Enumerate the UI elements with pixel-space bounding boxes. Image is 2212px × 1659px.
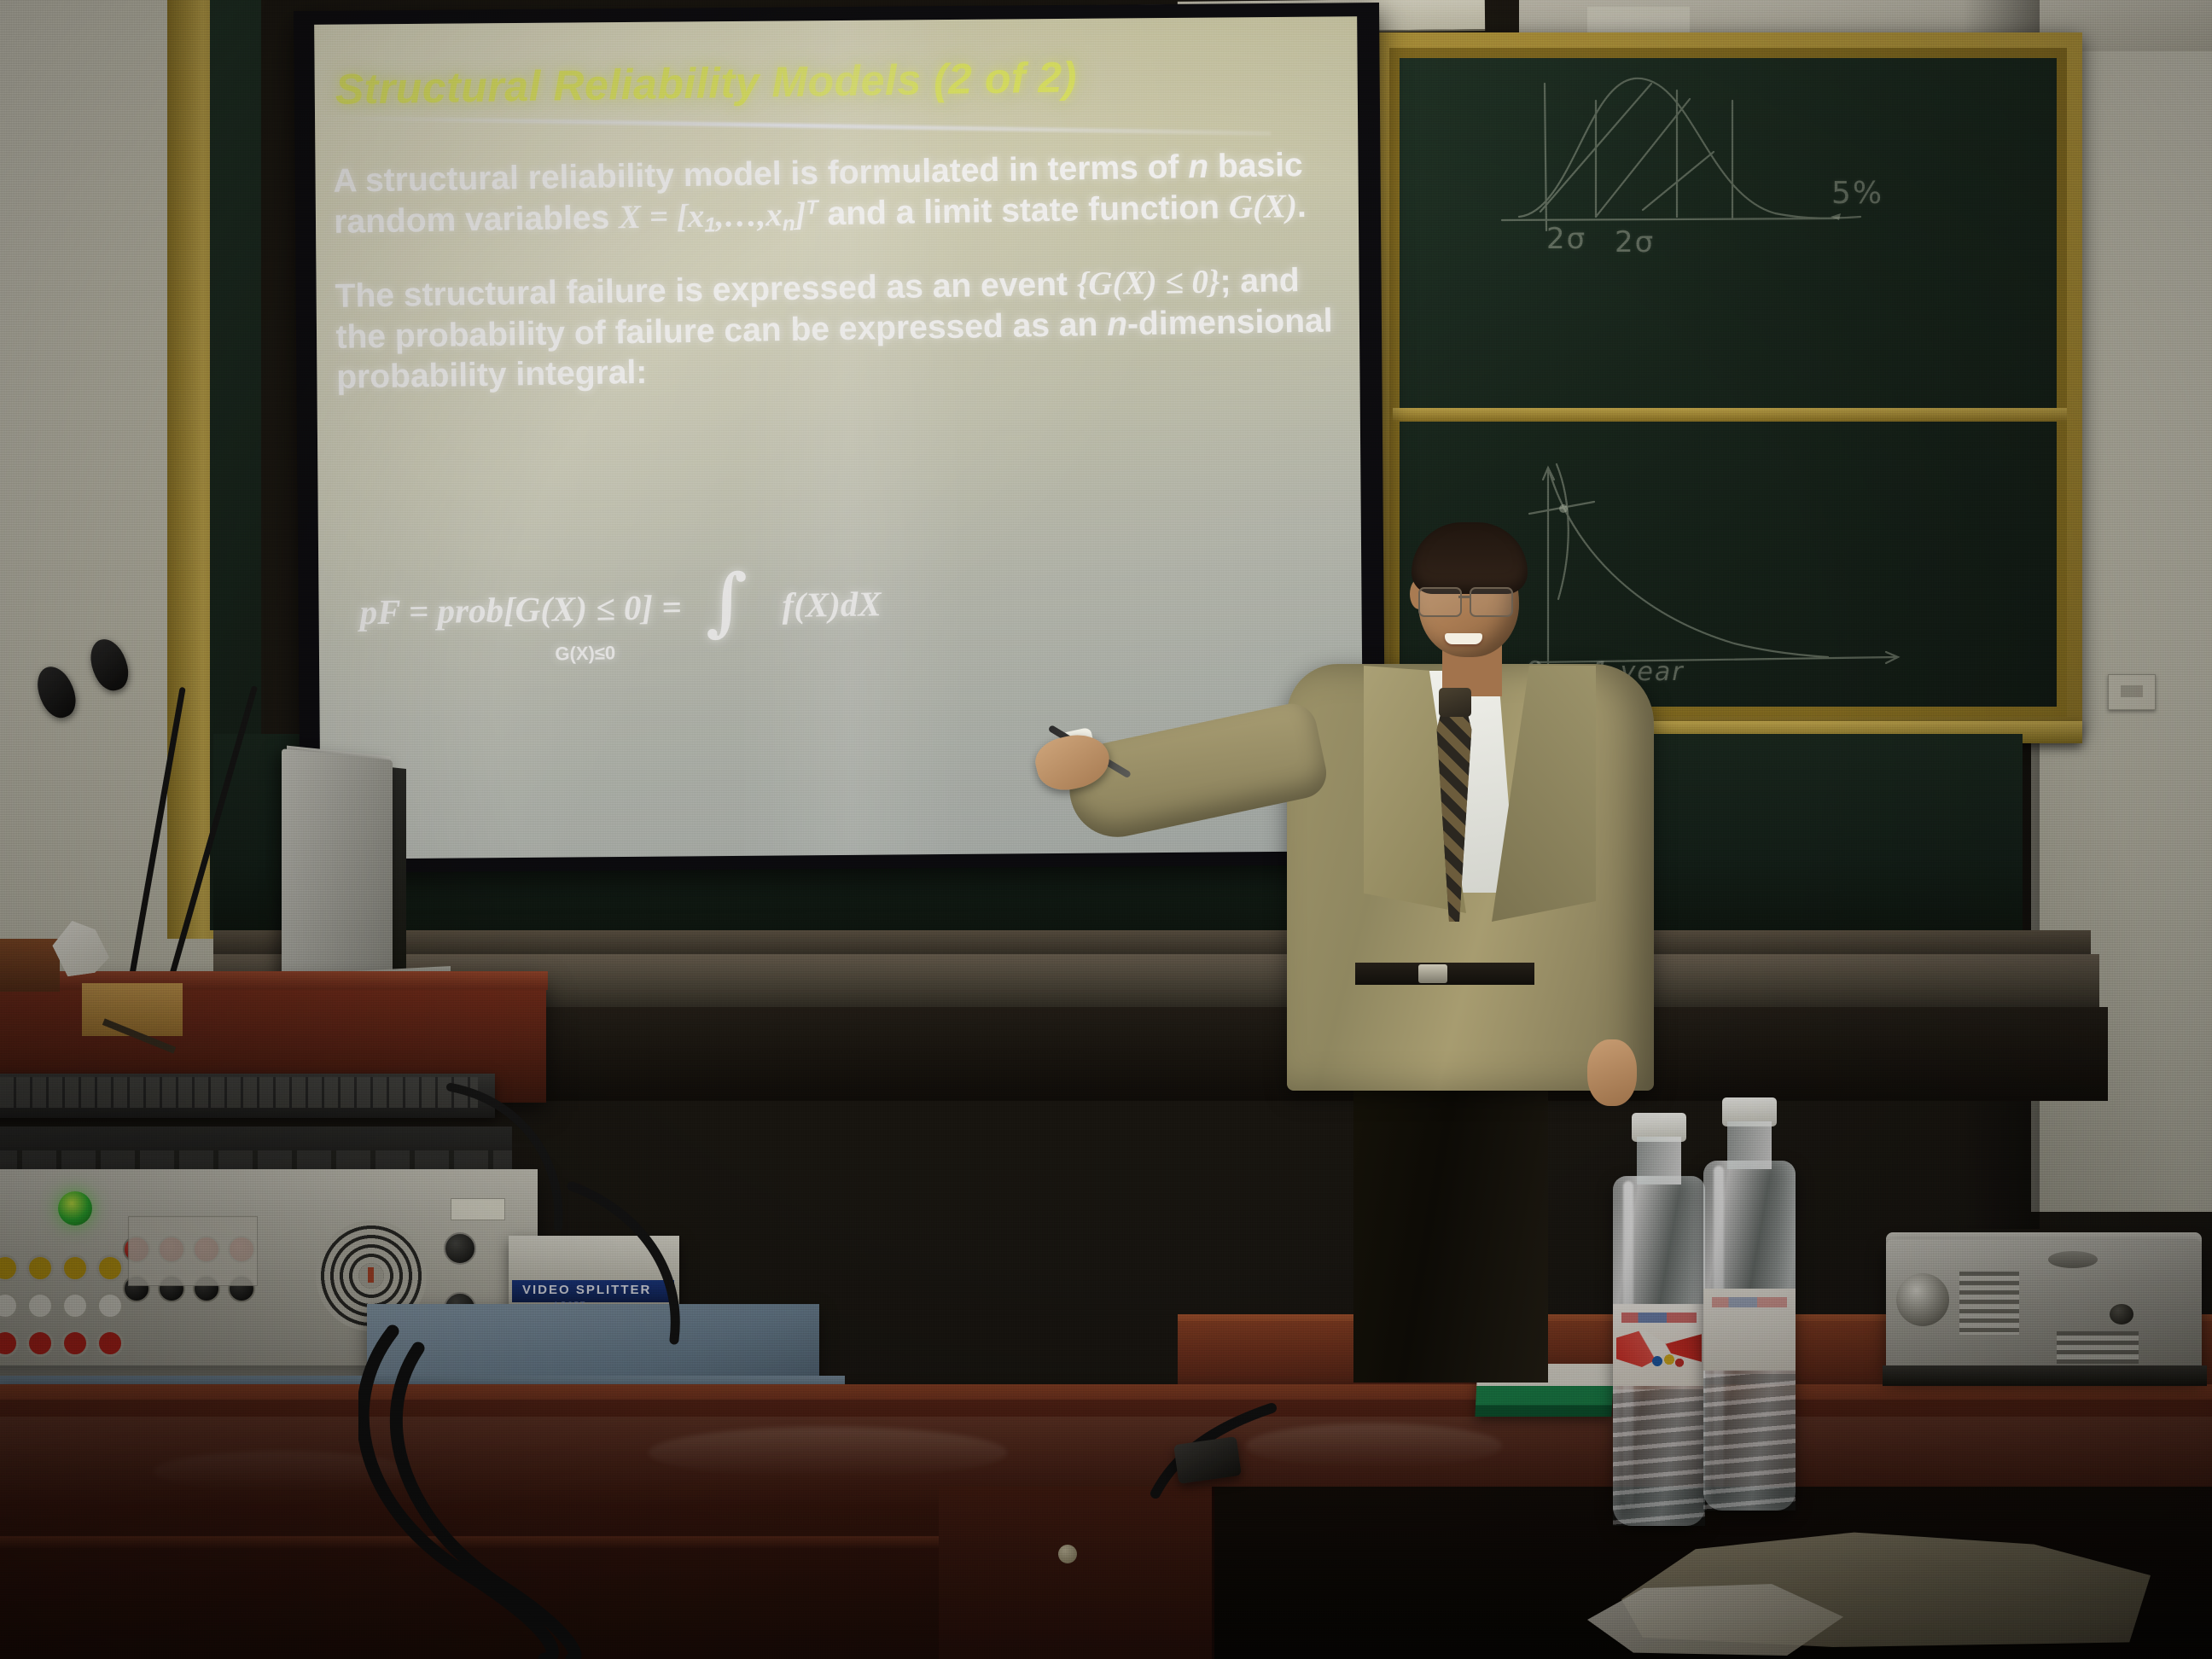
projector-vent-front (1959, 1272, 2019, 1335)
p1-formula-close: ] (795, 195, 806, 232)
rca-jack-row-yellow[interactable] (0, 1254, 124, 1282)
cardboard-box (82, 983, 183, 1036)
p2-event-rel: ≤ 0 (1156, 264, 1208, 301)
chalk-label-sigma-left: 2σ (1546, 222, 1586, 256)
rca-jack[interactable] (96, 1330, 124, 1357)
projector-shadow (1883, 1365, 2207, 1386)
chalk-label-sigma-right: 2σ (1615, 225, 1655, 259)
bottle-neck-1 (1637, 1137, 1681, 1185)
laptop-icon (282, 748, 393, 1008)
p1-formula-xn: x (765, 196, 783, 233)
slide-title-rule (314, 115, 1271, 136)
rca-jack[interactable] (61, 1254, 89, 1282)
projector-knob[interactable] (2110, 1304, 2133, 1324)
p1-part3: and a limit state function (818, 189, 1229, 232)
blackboard-mid-rail (1393, 408, 2067, 422)
rca-jack[interactable] (26, 1292, 54, 1319)
p1-formula-eq: = [ (641, 198, 688, 236)
chalk-bell-curve (1493, 49, 1920, 297)
p1-formula2-X: (X) (1253, 188, 1298, 225)
slide-paragraph-1: A structural reliability model is formul… (333, 144, 1349, 244)
p1-part4: . (1297, 188, 1307, 224)
p1-formula-mid: ,…, (715, 196, 765, 234)
rca-jack-row-white[interactable] (0, 1292, 124, 1319)
presenter-belt-buckle (1418, 964, 1447, 983)
projector-vent-side (2057, 1331, 2139, 1364)
equation-lhs: pF = prob[G(X) ≤ 0] = (359, 586, 682, 632)
bottle-brand-mark-1 (1621, 1313, 1697, 1323)
bottle-ribs-2 (1703, 1374, 1796, 1511)
p2-event-close: } (1208, 264, 1220, 300)
projector-focus-dial[interactable] (2048, 1251, 2098, 1268)
bottle-label-1 (1613, 1304, 1705, 1386)
p2-var-n: n (1107, 306, 1128, 342)
p1-formula-X: X (619, 198, 642, 235)
integral-limit: G(X)≤0 (555, 642, 615, 665)
desk-cabinet-panel (939, 1487, 1214, 1659)
bottle-brand-mark-2 (1712, 1297, 1787, 1307)
presenter-tie-knot (1439, 688, 1471, 717)
rca-jack[interactable] (26, 1330, 54, 1357)
cable-icon-3 (444, 1082, 649, 1236)
glasses-lens-left (1418, 587, 1462, 617)
bottle-label-dots-1 (1650, 1353, 1685, 1369)
p1-formula-sup: T (806, 195, 818, 218)
cable-icon (358, 1314, 888, 1659)
power-led-indicator (58, 1191, 92, 1225)
slide-paragraph-2: The structural failure is expressed as a… (335, 259, 1352, 398)
water-bottle-icon-2 (1703, 1161, 1796, 1511)
equation-integrand: f(X)dX (782, 583, 882, 626)
glasses-icon (1418, 587, 1521, 616)
p2-event-open: { (1076, 265, 1088, 302)
bottle-ribs-1 (1613, 1389, 1705, 1526)
p1-var-n: n (1188, 148, 1209, 185)
integral-sign: ∫ (705, 579, 748, 625)
p1-formula-sub1: 1 (704, 213, 716, 236)
rca-jack[interactable] (61, 1330, 89, 1357)
rca-jack[interactable] (0, 1292, 19, 1319)
p2-event-X: (X) (1112, 265, 1157, 302)
cooling-fan-hub (358, 1263, 384, 1289)
p1-formula-x1: x (687, 197, 704, 234)
wall-outlet (2108, 674, 2156, 710)
slide-equation: pF = prob[G(X) ≤ 0] = ∫ f(X)dX G(X)≤0 (359, 576, 1316, 637)
slide-title: Structural Reliability Models (2 of 2) (335, 48, 1325, 114)
rca-jack[interactable] (96, 1254, 124, 1282)
podium-side-box (0, 939, 60, 992)
p1-formula2-G: G (1228, 189, 1253, 225)
presenter-mouth (1445, 633, 1482, 644)
rca-jack[interactable] (61, 1292, 89, 1319)
desk-cabinet-knob[interactable] (1058, 1545, 1077, 1563)
amplifier-jack-top[interactable] (444, 1232, 476, 1265)
bottle-neck-2 (1727, 1121, 1772, 1169)
p2-event-G: G (1088, 265, 1113, 302)
rca-jack[interactable] (0, 1254, 19, 1282)
chalk-label-percent: 5% (1831, 176, 1883, 211)
water-bottle-icon-1 (1613, 1176, 1705, 1526)
bottle-label-2 (1703, 1289, 1796, 1371)
rca-jack[interactable] (26, 1254, 54, 1282)
rca-jack[interactable] (0, 1330, 19, 1357)
keyboard-keys[interactable] (0, 1077, 478, 1108)
presenter-hand-right (1587, 1039, 1637, 1106)
p1-formula-subn: n (783, 212, 795, 235)
glasses-bridge (1458, 596, 1470, 598)
rca-jack-row-red[interactable] (0, 1330, 124, 1357)
rca-jack[interactable] (96, 1292, 124, 1319)
projector-lens (1896, 1273, 1949, 1326)
lecture-room-photo: 2σ 2σ 5% 0 1 year Redleaf (0, 0, 2212, 1659)
slide-body: A structural reliability model is formul… (333, 144, 1353, 431)
amplifier-warning-label (128, 1216, 258, 1286)
glasses-lens-right (1470, 587, 1513, 617)
